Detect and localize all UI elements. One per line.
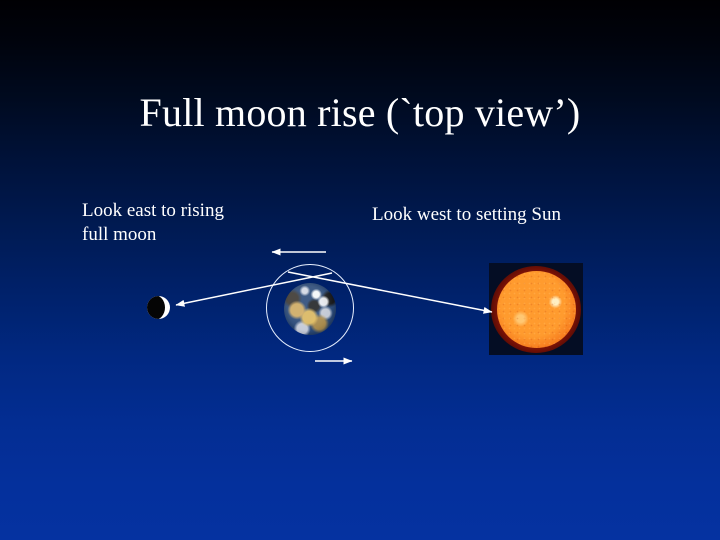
sun-granulation [497,271,576,348]
moon-dark-limb [147,296,165,319]
sight-line-to-sun [288,272,492,312]
sun-disc [497,271,576,348]
page-title: Full moon rise (`top view’) [0,89,720,137]
slide: Full moon rise (`top view’) Look east to… [0,0,720,540]
earth-shading [284,283,336,335]
diagram [0,0,720,540]
earth-icon [284,283,336,335]
sun-halo [491,266,581,353]
caption-look-west: Look west to setting Sun [372,203,632,227]
arrow-layer [0,0,720,540]
moon-icon [147,296,170,319]
sight-line-to-moon [176,273,332,305]
horizon-circle [266,264,354,352]
caption-look-east: Look east to rising full moon [82,199,297,247]
sun-icon [489,263,583,355]
